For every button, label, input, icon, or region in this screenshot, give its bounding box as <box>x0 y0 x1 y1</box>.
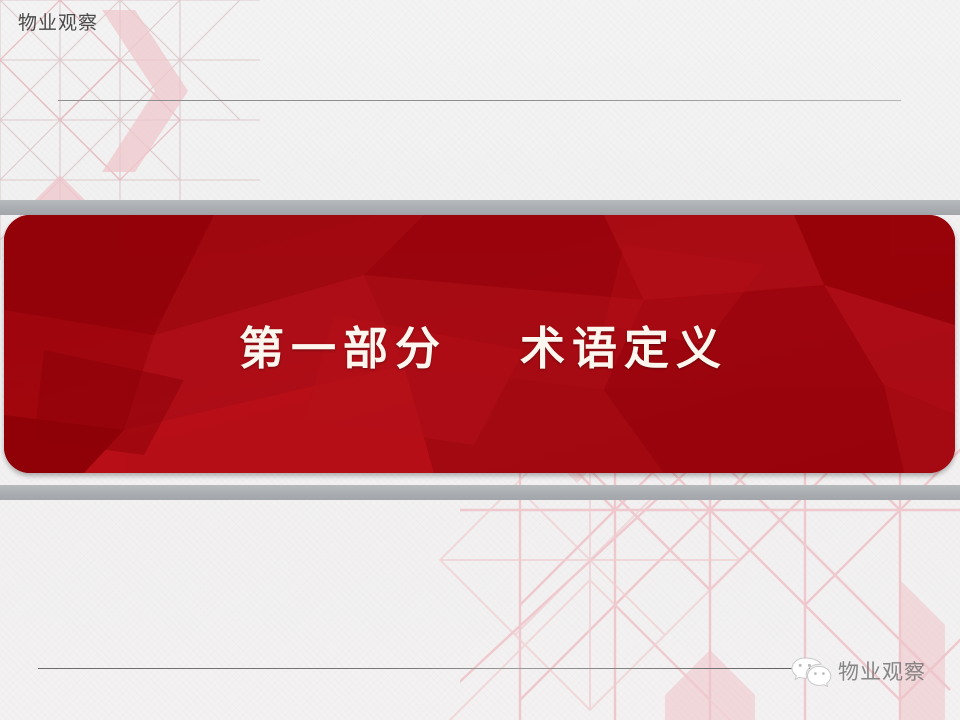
slide-canvas: 第一部分 术语定义 物业观察 物业观察 <box>0 0 960 720</box>
bottom-divider-rule <box>38 668 810 669</box>
footer-brand-text: 物业观察 <box>838 656 926 686</box>
gray-bar-top <box>0 200 960 215</box>
footer-brand: 物业观察 <box>790 655 926 687</box>
wechat-icon <box>790 655 832 687</box>
banner-title: 第一部分 术语定义 <box>4 215 955 473</box>
lattice-bottom-center-icon <box>380 430 800 720</box>
header-label: 物业观察 <box>18 8 98 35</box>
top-divider-rule <box>58 100 901 101</box>
gray-bar-bottom <box>0 485 960 500</box>
section-banner: 第一部分 术语定义 <box>4 215 955 473</box>
